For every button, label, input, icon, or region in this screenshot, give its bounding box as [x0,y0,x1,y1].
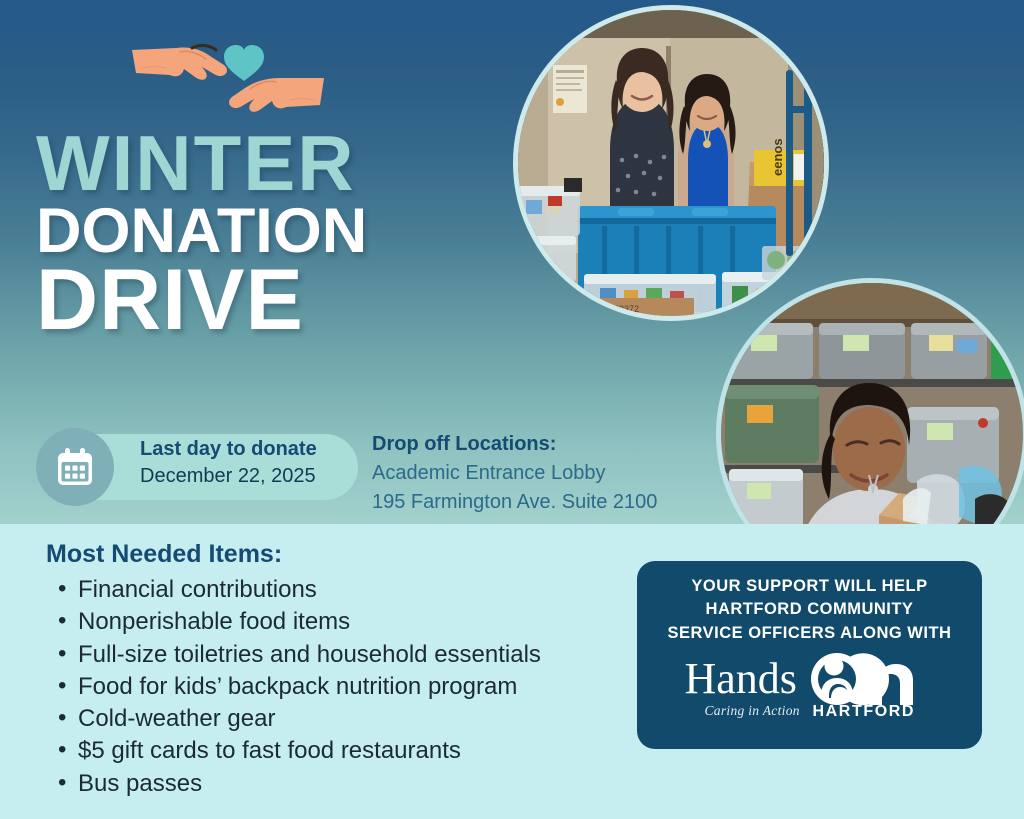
list-item: Food for kids’ backpack nutrition progra… [50,671,670,703]
list-item: Bus passes [50,768,670,800]
giving-hands-heart-icon [128,28,328,128]
photo-two-volunteers-with-blue-donation-bin: eenos [513,5,829,321]
svg-text:eenos: eenos [770,138,785,176]
support-message: YOUR SUPPORT WILL HELP HARTFORD COMMUNIT… [650,575,970,645]
list-item: Nonperishable food items [50,606,670,638]
dropoff-block: Drop off Locations: Academic Entrance Lo… [372,430,792,517]
winter-donation-drive-flyer: WINTER DONATION DRIVE [0,0,1024,819]
list-item: Financial contributions [50,574,670,606]
logo-hands-word: Hands [685,657,797,701]
logo-tagline: Caring in Action [705,703,800,719]
dropoff-location-line-2: 195 Farmington Ave. Suite 2100 [372,488,792,517]
support-line-3: SERVICE OFFICERS ALONG WITH [650,622,970,645]
support-line-1: YOUR SUPPORT WILL HELP [650,575,970,598]
most-needed-list: Financial contributions Nonperishable fo… [50,574,670,800]
info-strip: Last day to donate December 22, 2025 Dro… [0,420,1024,520]
headline-line-drive: DRIVE [36,259,466,342]
deadline-text: Last day to donate December 22, 2025 [140,436,370,490]
logo-hartford-word: HARTFORD [813,703,916,721]
dropoff-title: Drop off Locations: [372,430,792,459]
list-item: Cold-weather gear [50,703,670,735]
calendar-icon [36,428,114,506]
logo-on-mark-icon [807,651,932,707]
headline-line-winter: WINTER [36,126,466,201]
support-line-2: HARTFORD COMMUNITY [650,598,970,621]
deadline-label: Last day to donate [140,436,370,463]
list-item: Full-size toiletries and household essen… [50,639,670,671]
svg-text:03372: 03372 [614,304,639,314]
most-needed-title: Most Needed Items: [46,540,282,569]
deadline-date: December 22, 2025 [140,463,370,490]
support-card: YOUR SUPPORT WILL HELP HARTFORD COMMUNIT… [637,561,982,749]
hands-on-hartford-logo: Hands Caring in Action HARTFORD [685,653,935,727]
dropoff-location-line-1: Academic Entrance Lobby [372,459,792,488]
headline-block: WINTER DONATION DRIVE [36,126,466,342]
list-item: $5 gift cards to fast food restaurants [50,735,670,767]
hero-section: WINTER DONATION DRIVE [0,0,1024,524]
